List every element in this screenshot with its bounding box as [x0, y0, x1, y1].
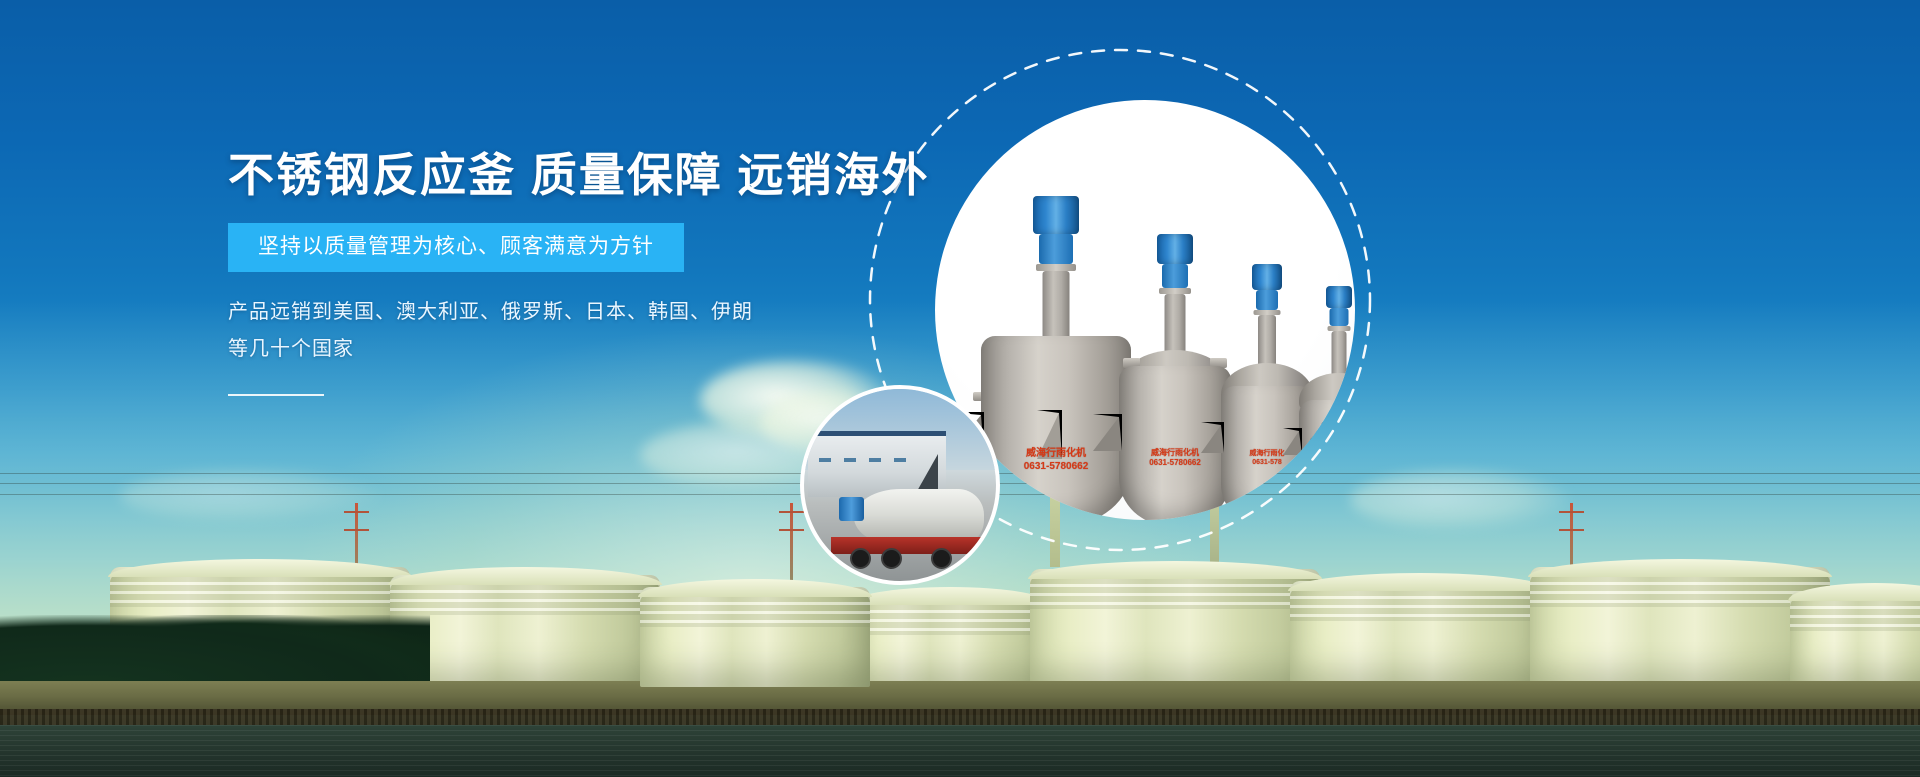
reactor-vessel: 威海行雨化机 0631-5780662: [1119, 234, 1231, 520]
support-leg: [1283, 428, 1302, 455]
product-photo-circle: 威海行雨化机 0631-5780662 威海行雨化机 0631-5780662: [935, 100, 1355, 520]
gearbox: [1330, 308, 1349, 326]
window: [819, 458, 831, 462]
brand-line-1: 威海行雨化机: [1149, 448, 1201, 458]
water-surface: [0, 725, 1920, 777]
storage-tank: [850, 595, 1050, 687]
truck-wheel: [850, 548, 871, 569]
motor-icon: [839, 497, 864, 522]
brand-line-1: 威海行雨: [1326, 454, 1351, 462]
brand-line-1: 威海行雨化: [1250, 450, 1285, 459]
window: [844, 458, 856, 462]
gearbox: [1256, 290, 1278, 310]
brand-line-2: 0631-578: [1250, 459, 1285, 468]
shaft-column: [1258, 315, 1276, 367]
treeline: [0, 615, 430, 685]
brand-line-2: 0631-578: [1326, 462, 1351, 470]
transmission-tower: [790, 503, 793, 589]
storage-tank: [1030, 569, 1320, 687]
decorative-rule: [228, 394, 324, 396]
motor-icon: [1033, 196, 1079, 234]
banner-headline: 不锈钢反应釜 质量保障 远销海外: [228, 150, 988, 201]
vessel-brand-text: 威海行雨化机 0631-5780662: [1149, 448, 1201, 468]
description-line-2: 等几十个国家: [228, 331, 988, 368]
tank-farm-scene: [0, 577, 1920, 777]
truck-wheel: [931, 548, 952, 569]
banner-copy: 不锈钢反应釜 质量保障 远销海外 坚持以质量管理为核心、顾客满意为方针 产品远销…: [228, 150, 988, 396]
vessel-brand-text: 威海行雨 0631-578: [1326, 454, 1351, 469]
storage-tank: [1290, 581, 1550, 687]
reactor-vessel: 威海行雨化机 0631-5780662: [981, 196, 1131, 520]
motor-icon: [1157, 234, 1193, 264]
truck-wheel: [881, 548, 902, 569]
vessel-brand-text: 威海行雨化 0631-578: [1250, 450, 1285, 468]
storage-tank: [1790, 591, 1920, 687]
gearbox: [1039, 234, 1073, 264]
secondary-photo-circle: [800, 385, 1000, 585]
storage-tank: [640, 587, 870, 687]
shaft-column: [1165, 294, 1186, 354]
banner-description: 产品远销到美国、澳大利亚、俄罗斯、日本、韩国、伊朗 等几十个国家: [228, 294, 988, 368]
flange: [1036, 264, 1076, 271]
banner-subtitle-bar: 坚持以质量管理为核心、顾客满意为方针: [228, 223, 684, 272]
brand-line-2: 0631-5780662: [1024, 461, 1089, 474]
brand-line-1: 威海行雨化机: [1024, 448, 1089, 461]
shaft-column: [1332, 331, 1347, 377]
gearbox: [1162, 264, 1188, 288]
storage-tank: [390, 575, 660, 687]
storage-tank: [1530, 567, 1830, 687]
motor-icon: [1326, 286, 1352, 308]
window: [894, 458, 906, 462]
vessel-brand-text: 威海行雨化机 0631-5780662: [1024, 448, 1089, 473]
support-leg: [1201, 422, 1224, 453]
brand-line-2: 0631-5780662: [1149, 458, 1201, 468]
shaft-column: [1043, 271, 1070, 343]
description-line-1: 产品远销到美国、澳大利亚、俄罗斯、日本、韩国、伊朗: [228, 294, 988, 331]
support-leg: [1093, 414, 1122, 451]
motor-icon: [1252, 264, 1282, 290]
window: [869, 458, 881, 462]
reactor-vessel: 威海行雨 0631-578: [1299, 286, 1355, 520]
hero-banner: 威海行雨化机 0631-5780662 威海行雨化机 0631-5780662: [0, 0, 1920, 777]
